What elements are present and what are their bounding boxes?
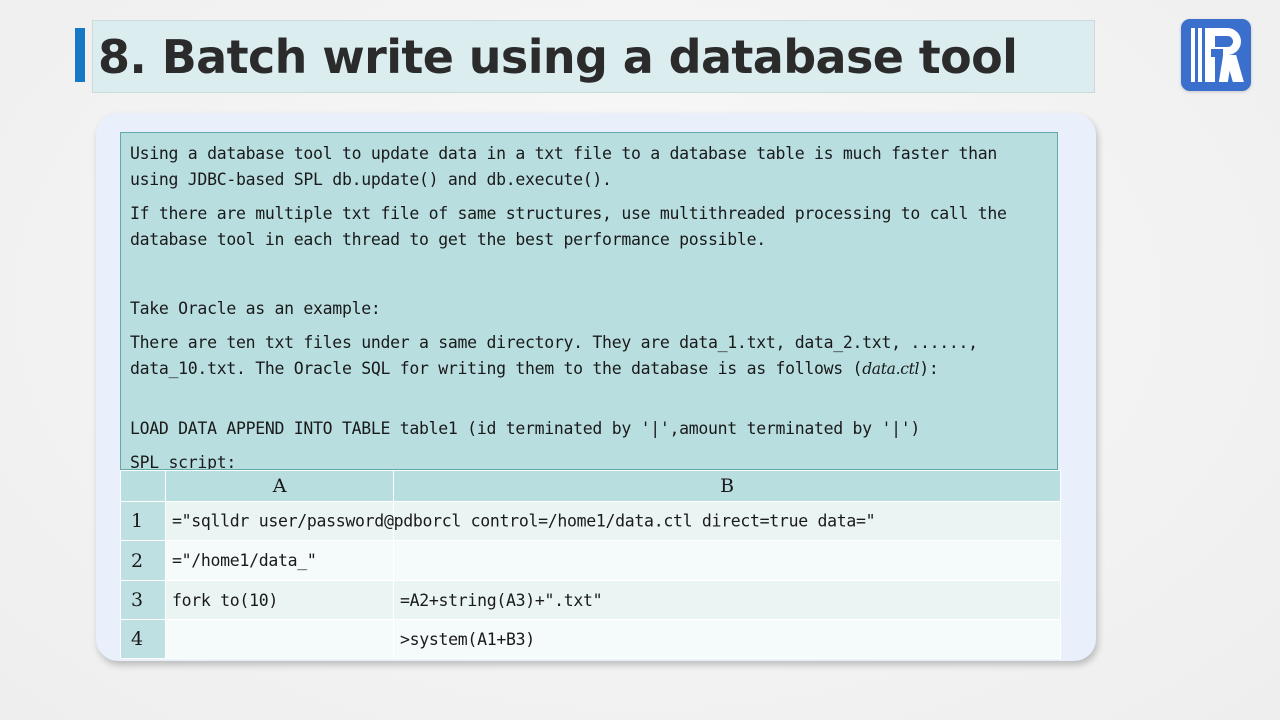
paragraph-load-data-sql: LOAD DATA APPEND INTO TABLE table1 (id t… [130,416,1050,442]
logo-stripe-2 [1198,28,1202,82]
grid-corner-cell[interactable] [121,471,166,502]
table-header-row: A B [121,471,1061,502]
files-description-suffix: ): [919,359,938,378]
row-number-2[interactable]: 2 [121,541,166,581]
spl-script-grid: A B 1 ="sqlldr user/password@pdborcl con… [120,470,1061,659]
cell-a4[interactable] [166,620,394,659]
paragraph-spl-script-label: SPL script: [130,450,1050,470]
control-file-name: data.ctl [862,360,919,378]
row-number-4[interactable]: 4 [121,620,166,659]
column-header-b[interactable]: B [394,471,1061,502]
description-textbox: Using a database tool to update data in … [120,132,1058,470]
row-number-1[interactable]: 1 [121,502,166,541]
files-description-text: There are ten txt files under a same dir… [130,333,987,378]
row-number-3[interactable]: 3 [121,581,166,620]
paragraph-oracle-example: Take Oracle as an example: [130,296,1050,322]
paragraph-files-description: There are ten txt files under a same dir… [130,330,1050,382]
paragraph-multithread: If there are multiple txt file of same s… [130,201,1050,253]
table-row: 4 >system(A1+B3) [121,620,1061,659]
cell-a1[interactable]: ="sqlldr user/password@pdborcl control=/… [166,502,394,541]
logo-r-notch [1211,49,1223,57]
table-row: 3 fork to(10) =A2+string(A3)+".txt" [121,581,1061,620]
cell-a2[interactable]: ="/home1/data_" [166,541,394,581]
table-row: 1 ="sqlldr user/password@pdborcl control… [121,502,1061,541]
slide-title-bar: 8. Batch write using a database tool [0,0,1280,110]
raqsoft-r-logo [1181,19,1251,91]
cell-b2[interactable] [394,541,1061,581]
logo-stripe-1 [1191,28,1195,82]
cell-a3[interactable]: fork to(10) [166,581,394,620]
column-header-a[interactable]: A [166,471,394,502]
cell-a1-text: ="sqlldr user/password@pdborcl control=/… [172,512,875,531]
cell-b4[interactable]: >system(A1+B3) [394,620,1061,659]
paragraph-intro: Using a database tool to update data in … [130,141,1050,193]
title-accent-bar [75,28,85,82]
cell-b3[interactable]: =A2+string(A3)+".txt" [394,581,1061,620]
page-title: 8. Batch write using a database tool [98,22,1088,92]
table-row: 2 ="/home1/data_" [121,541,1061,581]
